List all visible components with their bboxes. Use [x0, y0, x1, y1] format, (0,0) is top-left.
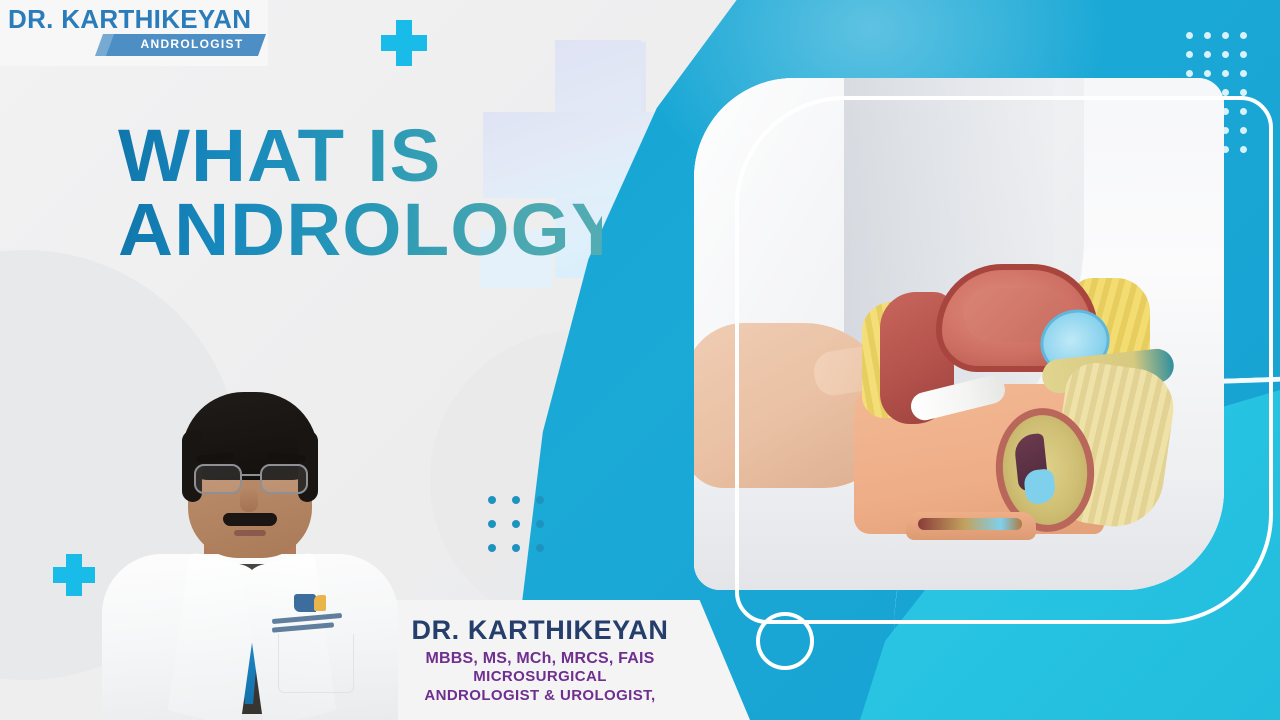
dot: [1240, 32, 1247, 39]
dot: [1240, 51, 1247, 58]
portrait-mouth: [234, 530, 266, 536]
dot: [512, 544, 520, 552]
coat-logo-mark: [294, 594, 316, 612]
brand-logo-tagline: ANDROLOGIST: [130, 37, 254, 51]
page-title: WHAT IS ANDROLOGY?: [118, 122, 588, 264]
portrait-coat-pocket: [278, 634, 354, 693]
medical-cross-icon-bottom: [53, 554, 95, 596]
dot: [1186, 51, 1193, 58]
credit-specialty-line-2: ANDROLOGIST & UROLOGIST,: [390, 687, 690, 706]
cross-horizontal-bar: [381, 35, 427, 51]
dot: [1186, 32, 1193, 39]
portrait-mustache: [223, 513, 277, 526]
dot: [1204, 51, 1211, 58]
dot: [1222, 32, 1229, 39]
cross-horizontal-bar: [53, 567, 95, 583]
page-title-line-1: WHAT IS: [118, 122, 602, 190]
portrait-nose: [240, 488, 258, 512]
dot: [512, 520, 520, 528]
dot: [536, 496, 544, 504]
dot-grid-icon-center: [488, 496, 560, 568]
credit-specialty-line-1: MICROSURGICAL: [390, 668, 690, 687]
coat-logo-text-line-2: [272, 622, 334, 632]
dot: [536, 544, 544, 552]
dot: [1186, 70, 1193, 77]
dot: [512, 496, 520, 504]
dot: [1222, 70, 1229, 77]
dot: [488, 496, 496, 504]
glasses-lens-right: [260, 464, 308, 494]
model-stand-insert: [918, 518, 1022, 530]
coat-logo-accent: [314, 595, 326, 611]
portrait-coat-logo: [270, 594, 348, 636]
brand-logo: DR. KARTHIKEYAN ANDROLOGIST: [0, 0, 268, 66]
glasses-lens-left: [194, 464, 242, 494]
portrait-glasses: [192, 464, 310, 490]
circle-outline-icon: [756, 612, 814, 670]
dot: [1240, 146, 1247, 153]
dot: [1240, 89, 1247, 96]
dot: [1204, 32, 1211, 39]
glasses-bridge: [242, 474, 260, 476]
dot: [536, 520, 544, 528]
dot: [1240, 70, 1247, 77]
dot: [488, 520, 496, 528]
dot: [1204, 70, 1211, 77]
page-title-line-2: ANDROLOGY?: [118, 196, 602, 264]
feature-photo: [694, 78, 1224, 590]
credit-qualifications: MBBS, MS, MCh, MRCS, FAIS: [390, 649, 690, 668]
anatomical-model: [844, 266, 1174, 536]
dot: [1222, 51, 1229, 58]
dot: [1240, 108, 1247, 115]
doctor-portrait: [92, 372, 408, 720]
credit-block: DR. KARTHIKEYAN MBBS, MS, MCh, MRCS, FAI…: [390, 616, 690, 705]
medical-cross-icon-top: [381, 20, 427, 66]
dot: [1240, 127, 1247, 134]
photo-scene: [694, 78, 1224, 590]
brand-logo-name: DR. KARTHIKEYAN: [8, 4, 251, 35]
dot: [488, 544, 496, 552]
model-stand: [906, 512, 1036, 540]
model-testis-vessel: [1023, 468, 1056, 505]
credit-name: DR. KARTHIKEYAN: [390, 616, 690, 646]
thumbnail-canvas: DR. KARTHIKEYAN ANDROLOGIST WHAT IS ANDR…: [0, 0, 1280, 720]
